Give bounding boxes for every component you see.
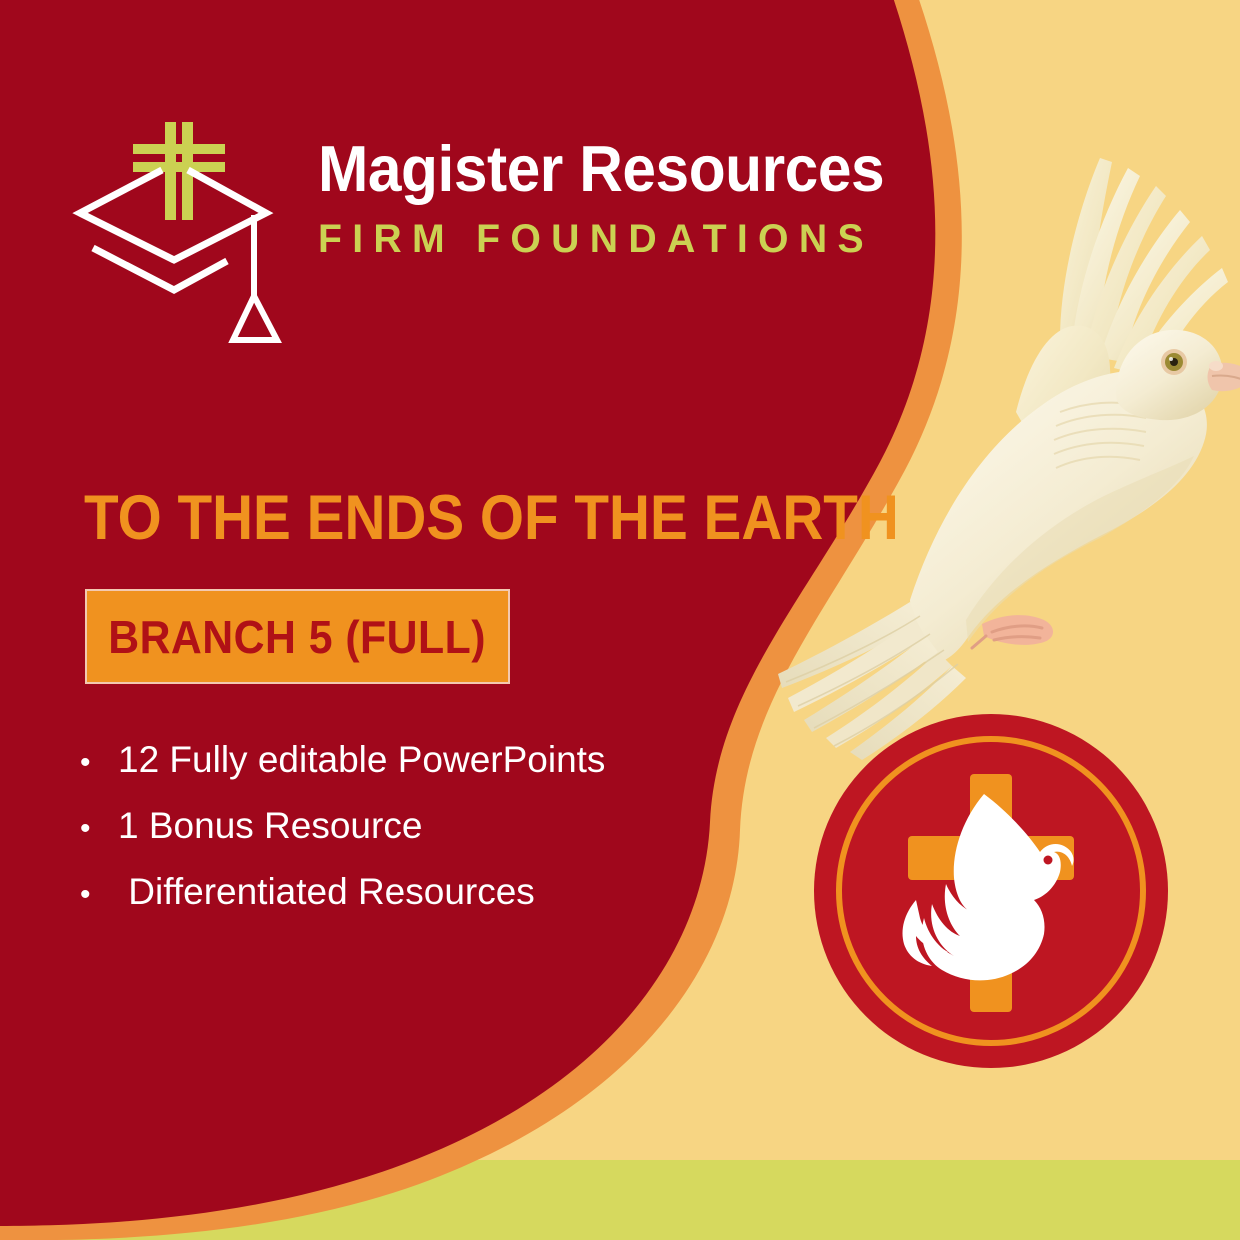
feature-list: • 12 Fully editable PowerPoints • 1 Bonu… xyxy=(80,728,720,926)
bullet-icon: • xyxy=(80,797,118,860)
list-item-label: Differentiated Resources xyxy=(118,860,535,923)
emblem-dove-eye xyxy=(1044,856,1053,865)
poster-canvas: Magister Resources FIRM FOUNDATIONS TO T… xyxy=(0,0,1240,1240)
bullet-icon: • xyxy=(80,863,118,926)
brand-logo-block: Magister Resources FIRM FOUNDATIONS xyxy=(70,118,900,338)
list-item: • Differentiated Resources xyxy=(80,860,720,926)
list-item-label: 12 Fully editable PowerPoints xyxy=(118,728,605,791)
tassel-icon xyxy=(233,215,277,340)
cross-shape xyxy=(133,122,225,220)
bullet-icon: • xyxy=(80,731,118,794)
list-item: • 12 Fully editable PowerPoints xyxy=(80,728,720,794)
dove-and-cross-emblem-icon xyxy=(812,712,1170,1070)
page-title: TO THE ENDS OF THE EARTH xyxy=(84,482,899,554)
list-item: • 1 Bonus Resource xyxy=(80,794,720,860)
branch-badge-label: BRANCH 5 (FULL) xyxy=(109,610,487,664)
brand-name: Magister Resources xyxy=(318,136,857,201)
brand-wordmark: Magister Resources FIRM FOUNDATIONS xyxy=(318,136,898,262)
graduation-cap-with-cross-icon xyxy=(70,118,300,343)
branch-badge: BRANCH 5 (FULL) xyxy=(85,589,510,684)
list-item-label: 1 Bonus Resource xyxy=(118,794,422,857)
brand-tagline: FIRM FOUNDATIONS xyxy=(318,217,886,262)
